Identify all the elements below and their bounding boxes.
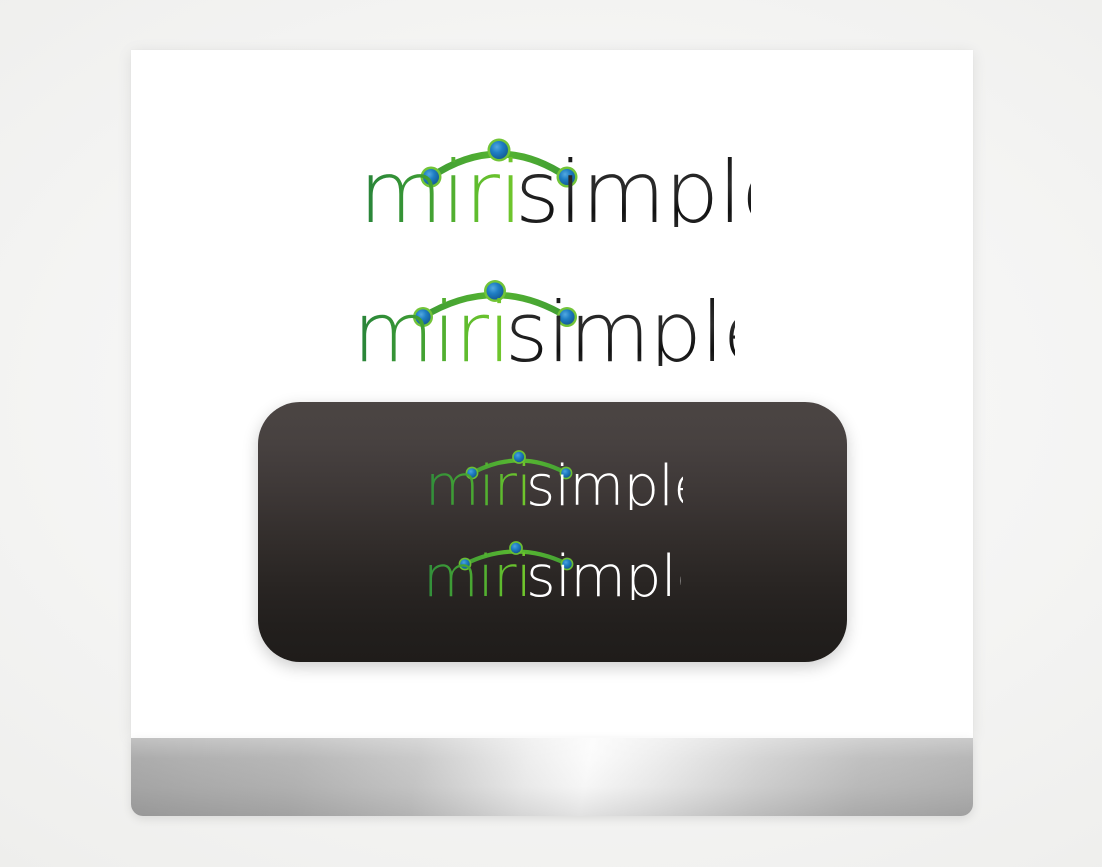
logo-light-large: miri simplex	[359, 127, 751, 227]
wordmark-miri: miri	[425, 454, 531, 510]
metallic-base-band	[131, 738, 973, 816]
wordmark-miri: miri	[423, 544, 531, 600]
wordmark-miri: miri	[359, 143, 522, 227]
wordmark-simplex: simplex	[515, 143, 751, 227]
wordmark-simplex: simplex	[526, 544, 681, 600]
wordmark-miri: miri	[353, 284, 510, 366]
logo-dark-small: miri simplex	[423, 530, 681, 600]
logo-presentation-card: miri simplex	[131, 50, 973, 738]
logo-dark-large: miri simplex	[425, 440, 683, 510]
wordmark-simplex: simplex	[505, 284, 735, 366]
logo-light-small: miri simplex	[353, 266, 735, 366]
dark-showcase-panel: miri simplex	[258, 402, 847, 662]
presentation-stage: miri simplex	[0, 0, 1102, 867]
wordmark-simplex: simplex	[526, 454, 683, 510]
